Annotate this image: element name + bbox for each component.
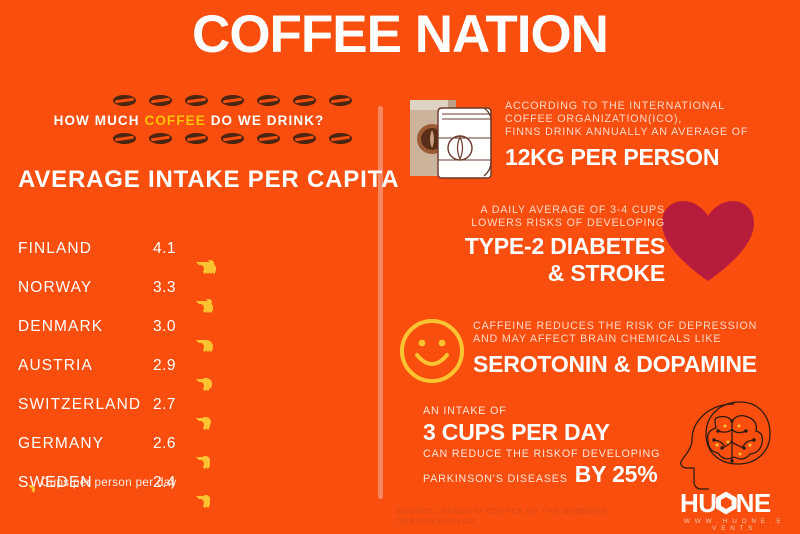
fact-4-tail-line-2: PARKINSON'S DISEASES <box>423 473 568 486</box>
coffee-bean-icon <box>113 133 136 144</box>
chart-legend: Cups per person per day <box>30 477 177 489</box>
vertical-divider <box>378 106 383 499</box>
fact-block-parkinsons: AN INTAKE OF 3 CUPS PER DAY CAN REDUCE T… <box>423 405 681 488</box>
fact-block-12kg: ACCORDING TO THE INTERNATIONAL COFFEE OR… <box>505 100 793 171</box>
cup-pictogram-group <box>199 493 205 495</box>
country-label: GERMANY <box>18 433 153 456</box>
fact-2-line-1: A DAILY AVERAGE OF 3-4 CUPS <box>395 204 665 217</box>
fact-3-headline: SEROTONIN & DOPAMINE <box>473 351 793 378</box>
coffee-bean-icon <box>329 133 352 144</box>
left-subheading: HOW MUCH COFFEE DO WE DRINK? <box>0 113 378 128</box>
country-label: SWITZERLAND <box>18 394 153 417</box>
intake-value: 2.7 <box>153 394 199 417</box>
section-title: AVERAGE INTAKE PER CAPITA <box>18 166 399 194</box>
subhead-highlight: COFFEE <box>144 113 205 128</box>
table-row: FINLAND4.1 <box>18 222 373 261</box>
fact-2-headline-2: & STROKE <box>395 260 665 287</box>
coffee-bean-icon <box>185 95 208 106</box>
coffee-bean-icon <box>221 95 244 106</box>
country-label: FINLAND <box>18 238 153 261</box>
country-label: AUSTRIA <box>18 355 153 378</box>
intake-pictogram-chart: FINLAND4.1NORWAY3.3DENMARK3.0AUSTRIA2.9S… <box>18 222 373 495</box>
logo-text-1: HU <box>680 489 717 517</box>
logo-url: W W W . H U O N E . E V E N T S <box>680 518 786 532</box>
country-label: DENMARK <box>18 316 153 339</box>
page-title: COFFEE NATION <box>0 4 800 66</box>
fact-4-tail-headline: BY 25% <box>575 461 658 488</box>
fact-1-line-1: ACCORDING TO THE INTERNATIONAL <box>505 100 793 113</box>
huone-logo[interactable]: HU NE W W W . H U O N E . E V E N T S <box>680 489 786 532</box>
coffee-bean-icon <box>185 133 208 144</box>
fact-4-headline: 3 CUPS PER DAY <box>423 419 681 446</box>
intake-value: 3.3 <box>153 277 199 300</box>
intake-value: 2.9 <box>153 355 199 378</box>
fact-4-lead-small: AN INTAKE OF <box>423 405 681 418</box>
table-row: DENMARK3.0 <box>18 300 373 339</box>
hexagon-o-icon <box>716 492 737 515</box>
infographic-poster: COFFEE NATION HOW MUCH COFFEE DO WE DRIN… <box>0 0 800 534</box>
coffee-bean-icon <box>293 95 316 106</box>
subhead-pre: HOW MUCH <box>54 113 145 128</box>
coffee-bean-row-top <box>113 95 352 106</box>
source-line-2: ORBISHEALTH.CA <box>396 516 608 526</box>
logo-text-2: NE <box>736 489 771 517</box>
fact-block-diabetes: A DAILY AVERAGE OF 3-4 CUPS LOWERS RISKS… <box>395 204 665 287</box>
coffee-bean-row-bottom <box>113 133 352 144</box>
coffee-bean-icon <box>257 133 280 144</box>
fact-block-serotonin: CAFFEINE REDUCES THE RISK OF DEPRESSION … <box>473 320 793 378</box>
fact-3-line-2: AND MAY AFFECT BRAIN CHEMICALS LIKE <box>473 333 793 346</box>
brain-head-icon <box>676 398 772 490</box>
table-row: GERMANY2.6 <box>18 417 373 456</box>
coffee-bean-icon <box>257 95 280 106</box>
smiley-face-icon <box>398 317 466 385</box>
fact-2-headline-1: TYPE-2 DIABETES <box>395 233 665 260</box>
intake-value: 2.6 <box>153 433 199 456</box>
fact-3-line-1: CAFFEINE REDUCES THE RISK OF DEPRESSION <box>473 320 793 333</box>
fact-4-tail-line-1: CAN REDUCE THE RISKOF DEVELOPING <box>423 448 681 461</box>
table-row: SWITZERLAND2.7 <box>18 378 373 417</box>
coffee-bag-icon <box>396 86 501 190</box>
source-line-1: SOURCE: STADISTA COFFEE BY THE NUMBERS <box>396 506 608 516</box>
legend-label: Cups per person per day <box>41 477 177 489</box>
table-row: SWEDEN2.4 <box>18 456 373 495</box>
country-label: NORWAY <box>18 277 153 300</box>
subhead-post: DO WE DRINK? <box>206 113 325 128</box>
huone-wordmark: HU NE <box>680 489 786 517</box>
table-row: NORWAY3.3 <box>18 261 373 300</box>
source-credit: SOURCE: STADISTA COFFEE BY THE NUMBERS O… <box>396 506 608 527</box>
fact-1-headline: 12KG PER PERSON <box>505 144 793 171</box>
fact-1-line-2: COFFEE ORGANIZATION(ICO), <box>505 113 793 126</box>
coffee-bean-icon <box>329 95 352 106</box>
heart-icon <box>662 201 754 283</box>
table-row: AUSTRIA2.9 <box>18 339 373 378</box>
coffee-bean-icon <box>221 133 244 144</box>
fact-2-line-2: LOWERS RISKS OF DEVELOPING <box>395 217 665 230</box>
intake-value: 4.1 <box>153 238 199 261</box>
coffee-bean-icon <box>149 133 172 144</box>
coffee-bean-icon <box>149 95 172 106</box>
intake-value: 3.0 <box>153 316 199 339</box>
coffee-bean-icon <box>293 133 316 144</box>
fact-1-line-3: FINNS DRINK ANNUALLY AN AVERAGE OF <box>505 126 793 139</box>
coffee-bean-icon <box>113 95 136 106</box>
fact-4-tail-row: PARKINSON'S DISEASES BY 25% <box>423 461 681 488</box>
